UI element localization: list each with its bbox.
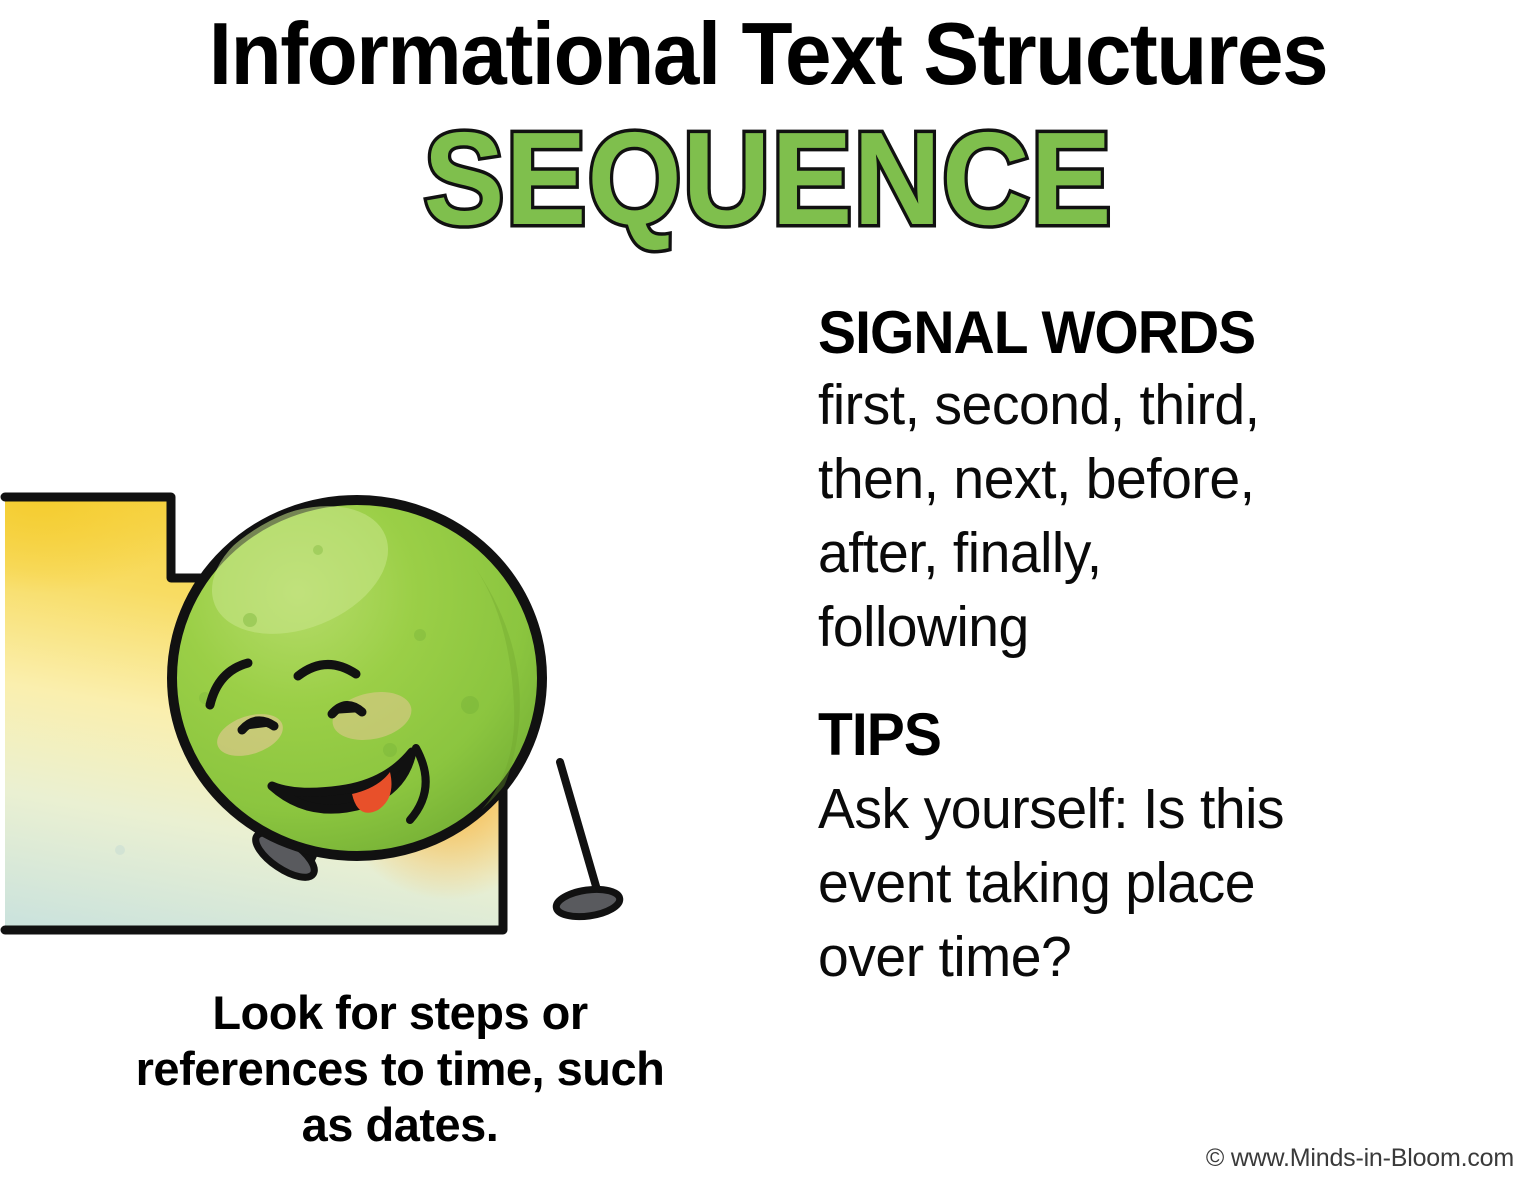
caption-line-3: as dates. [20, 1097, 780, 1153]
tips-heading: TIPS [818, 702, 1483, 768]
tips-line-2: event taking place [818, 846, 1497, 920]
character-eyelid-right [332, 705, 362, 714]
signal-words-heading: SIGNAL WORDS [818, 300, 1483, 366]
signal-words-line-4: following [818, 590, 1497, 664]
poster-header: Informational Text Structures SEQUENCE [0, 0, 1536, 275]
signal-words-line-3: after, finally, [818, 516, 1497, 590]
page-subtitle: SEQUENCE [61, 104, 1474, 254]
illustration [0, 430, 800, 990]
page-title: Informational Text Structures [38, 6, 1497, 102]
signal-words-line-2: then, next, before, [818, 442, 1497, 516]
caption-line-1: Look for steps or [20, 985, 780, 1041]
character-back-leg [560, 762, 600, 900]
copyright-notice: © www.Minds-in-Bloom.com [1206, 1143, 1514, 1173]
character-back-foot [555, 886, 622, 921]
signal-words-section: SIGNAL WORDS first, second, third, then,… [818, 300, 1518, 664]
illustration-caption: Look for steps or references to time, su… [20, 985, 780, 1153]
tips-section: TIPS Ask yourself: Is this event taking … [818, 702, 1518, 994]
tips-line-3: over time? [818, 920, 1497, 994]
caption-line-2: references to time, such [20, 1041, 780, 1097]
signal-words-body: first, second, third, then, next, before… [818, 368, 1497, 664]
signal-words-line-1: first, second, third, [818, 368, 1497, 442]
tips-line-1: Ask yourself: Is this [818, 772, 1497, 846]
tips-body: Ask yourself: Is this event taking place… [818, 772, 1497, 994]
right-column: SIGNAL WORDS first, second, third, then,… [818, 300, 1518, 994]
